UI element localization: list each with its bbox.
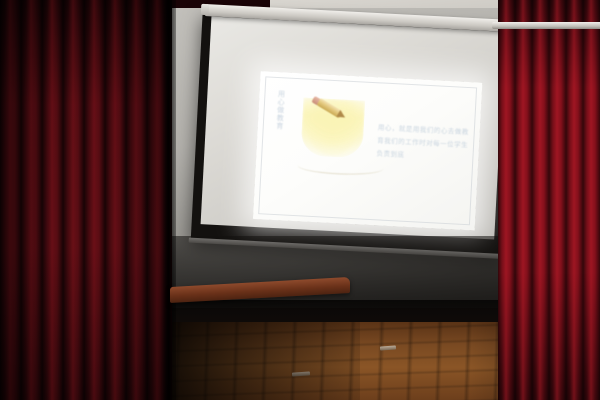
projection-screen-surface: 用心做教育 用心，就是用我们的心去做教 育我们的工作时对每一位学生 负责到底: [201, 16, 505, 239]
presentation-hall-photo: 用心做教育 用心，就是用我们的心去做教 育我们的工作时对每一位学生 负责到底: [0, 0, 600, 400]
stage-curtain-right: [498, 0, 600, 400]
slide-vertical-text: 用心做教育: [270, 90, 286, 131]
projected-slide: 用心做教育 用心，就是用我们的心去做教 育我们的工作时对每一位学生 负责到底: [253, 71, 482, 230]
projection-screen: 用心做教育 用心，就是用我们的心去做教 育我们的工作时对每一位学生 负责到底: [190, 6, 525, 271]
slide-body-text: 用心，就是用我们的心去做教 育我们的工作时对每一位学生 负责到底: [376, 121, 470, 165]
lectern-front-panel: [174, 295, 344, 400]
stage-curtain-left: [0, 0, 172, 400]
curtain-rod: [492, 22, 600, 29]
lectern: [170, 282, 350, 400]
